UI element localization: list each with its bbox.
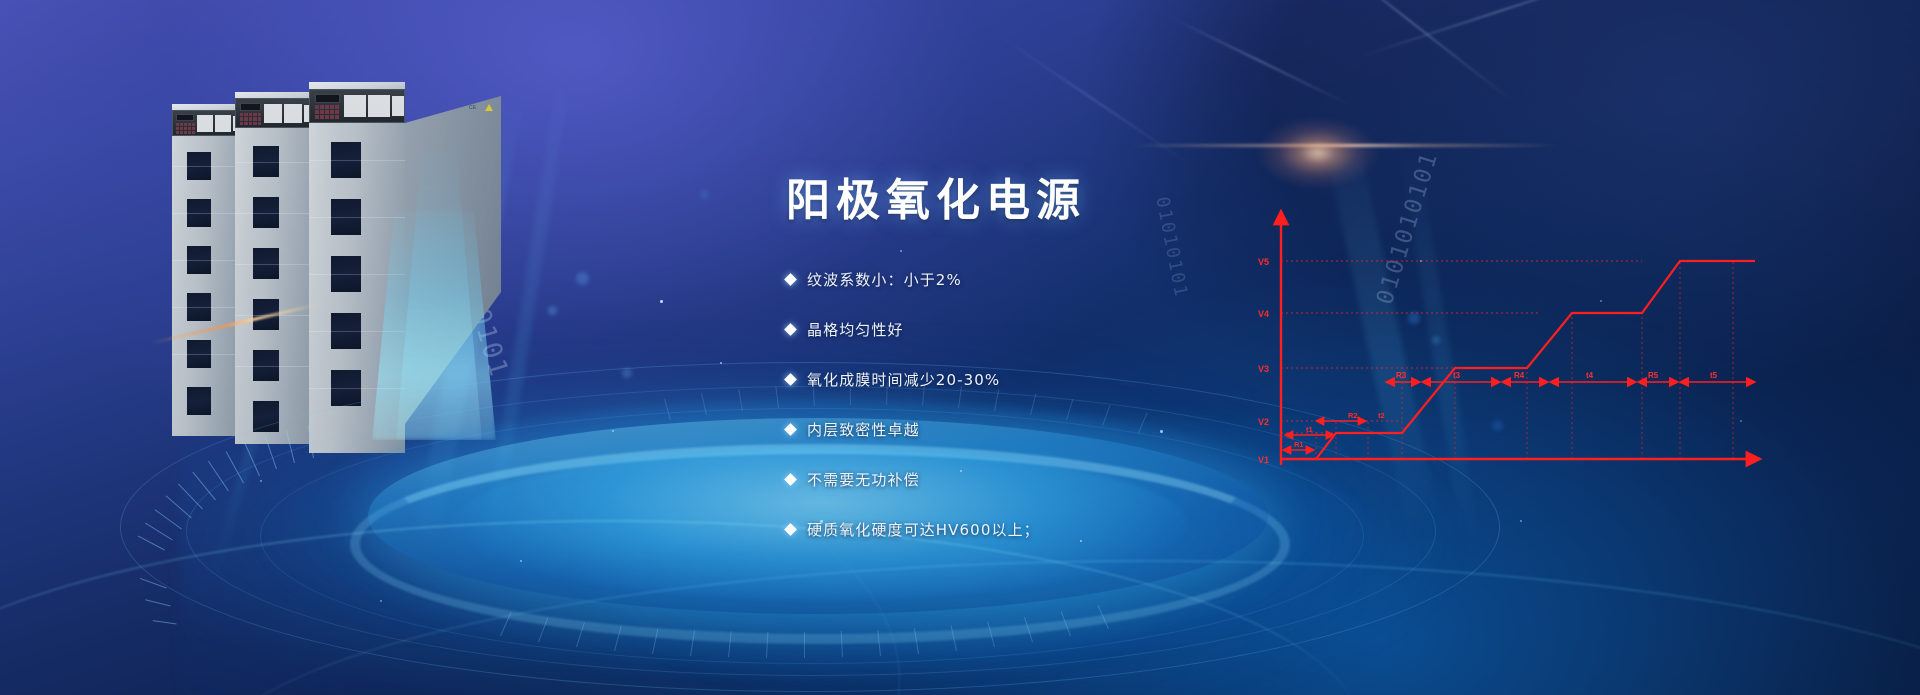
banner-root: 010101010101 0101010101 01010101 xyxy=(0,0,1920,695)
cabinet-1-seam-3 xyxy=(172,260,244,261)
cabinet-3-label-a xyxy=(344,95,366,117)
cabinet-3-control-panel xyxy=(309,89,405,123)
cabinet-1-seam-4 xyxy=(172,307,244,308)
list-item: 硬质氧化硬度可达HV600以上； xyxy=(786,517,1346,541)
diamond-bullet-icon xyxy=(784,523,797,536)
feature-label: 纹波系数小：小于2% xyxy=(807,269,962,290)
chart-y-tick-labels: V1 V2 V3 V4 V5 xyxy=(1258,257,1269,465)
voltage-ramp-chart: V1 V2 V3 V4 V5 R1 t1 R2 t2 xyxy=(1250,195,1790,485)
cabinet-3-seam-2 xyxy=(309,217,405,218)
y-tick-label: V5 xyxy=(1258,257,1269,267)
lens-flare-ray-3 xyxy=(1357,0,1643,58)
span-label-t4: t4 xyxy=(1586,371,1594,380)
cabinet-1-seam-1 xyxy=(172,166,244,167)
feature-label: 晶格均匀性好 xyxy=(807,319,904,340)
feature-label: 硬质氧化硬度可达HV600以上； xyxy=(807,519,1040,540)
y-tick-label: V1 xyxy=(1258,455,1269,465)
cabinet-2-keypad xyxy=(240,113,261,125)
cabinet-2-seam-3 xyxy=(235,264,317,265)
span-label-R5: R5 xyxy=(1648,371,1659,380)
cabinet-3-label-b xyxy=(368,95,390,117)
cabinet-2-display-screen xyxy=(240,103,261,111)
diamond-bullet-icon xyxy=(784,273,797,286)
y-tick-label: V3 xyxy=(1258,364,1269,374)
cabinet-3-meter xyxy=(392,96,404,116)
sparkle xyxy=(1520,520,1522,522)
cabinet-3-badge: CE xyxy=(469,105,477,111)
bokeh-dot xyxy=(548,306,557,315)
cabinet-3-keypad xyxy=(315,105,339,119)
diamond-bullet-icon xyxy=(784,373,797,386)
cabinet-1-display-screen xyxy=(176,114,194,121)
cabinet-1-seam-2 xyxy=(172,213,244,214)
feature-label: 氧化成膜时间减少20-30% xyxy=(807,369,1000,390)
span-label-R2: R2 xyxy=(1348,411,1358,420)
cabinet-1-label-a xyxy=(197,115,213,132)
feature-label: 内层致密性卓越 xyxy=(807,419,920,440)
diamond-bullet-icon xyxy=(784,473,797,486)
y-tick-label: V2 xyxy=(1258,417,1269,427)
span-label-t2: t2 xyxy=(1378,411,1385,420)
lens-flare-ray-2 xyxy=(1170,16,1350,105)
chart-axes xyxy=(1281,211,1760,465)
cabinet-2-label-a xyxy=(264,104,282,123)
span-label-t1: t1 xyxy=(1306,425,1313,434)
cabinet-3-display-screen xyxy=(315,94,340,103)
chart-span-labels-main: R3 t3 R4 t4 R5 t5 xyxy=(1396,371,1718,380)
y-tick-label: V4 xyxy=(1258,309,1269,319)
cabinet-2-control-panel xyxy=(235,98,317,128)
cabinet-1-keypad xyxy=(176,123,195,134)
span-label-R1: R1 xyxy=(1294,440,1304,449)
diamond-bullet-icon xyxy=(784,423,797,436)
feature-label: 不需要无功补偿 xyxy=(807,469,920,490)
span-label-R3: R3 xyxy=(1396,371,1407,380)
span-label-t3: t3 xyxy=(1453,371,1461,380)
chart-svg: V1 V2 V3 V4 V5 R1 t1 R2 t2 xyxy=(1250,195,1790,485)
cabinet-1-label-b xyxy=(215,115,231,132)
lens-flare-ray-4 xyxy=(999,36,1190,166)
cabinet-2-seam-2 xyxy=(235,213,317,214)
chart-gridlines-v xyxy=(1316,261,1733,459)
chart-gridlines-h xyxy=(1281,261,1642,433)
bokeh-dot xyxy=(700,190,709,199)
chart-span-labels-low: R1 t1 R2 t2 xyxy=(1294,411,1385,449)
span-label-t5: t5 xyxy=(1710,371,1718,380)
warning-triangle-icon xyxy=(485,104,493,111)
cabinet-2-seam-1 xyxy=(235,162,317,163)
span-label-R4: R4 xyxy=(1514,371,1525,380)
voltage-profile-line xyxy=(1281,261,1755,459)
cabinet-2-label-b xyxy=(284,104,302,123)
cabinet-3-seam-1 xyxy=(309,160,405,161)
diamond-bullet-icon xyxy=(784,323,797,336)
cabinet-1-control-panel xyxy=(172,110,244,136)
sparkle xyxy=(660,300,663,303)
bokeh-dot xyxy=(576,272,589,285)
